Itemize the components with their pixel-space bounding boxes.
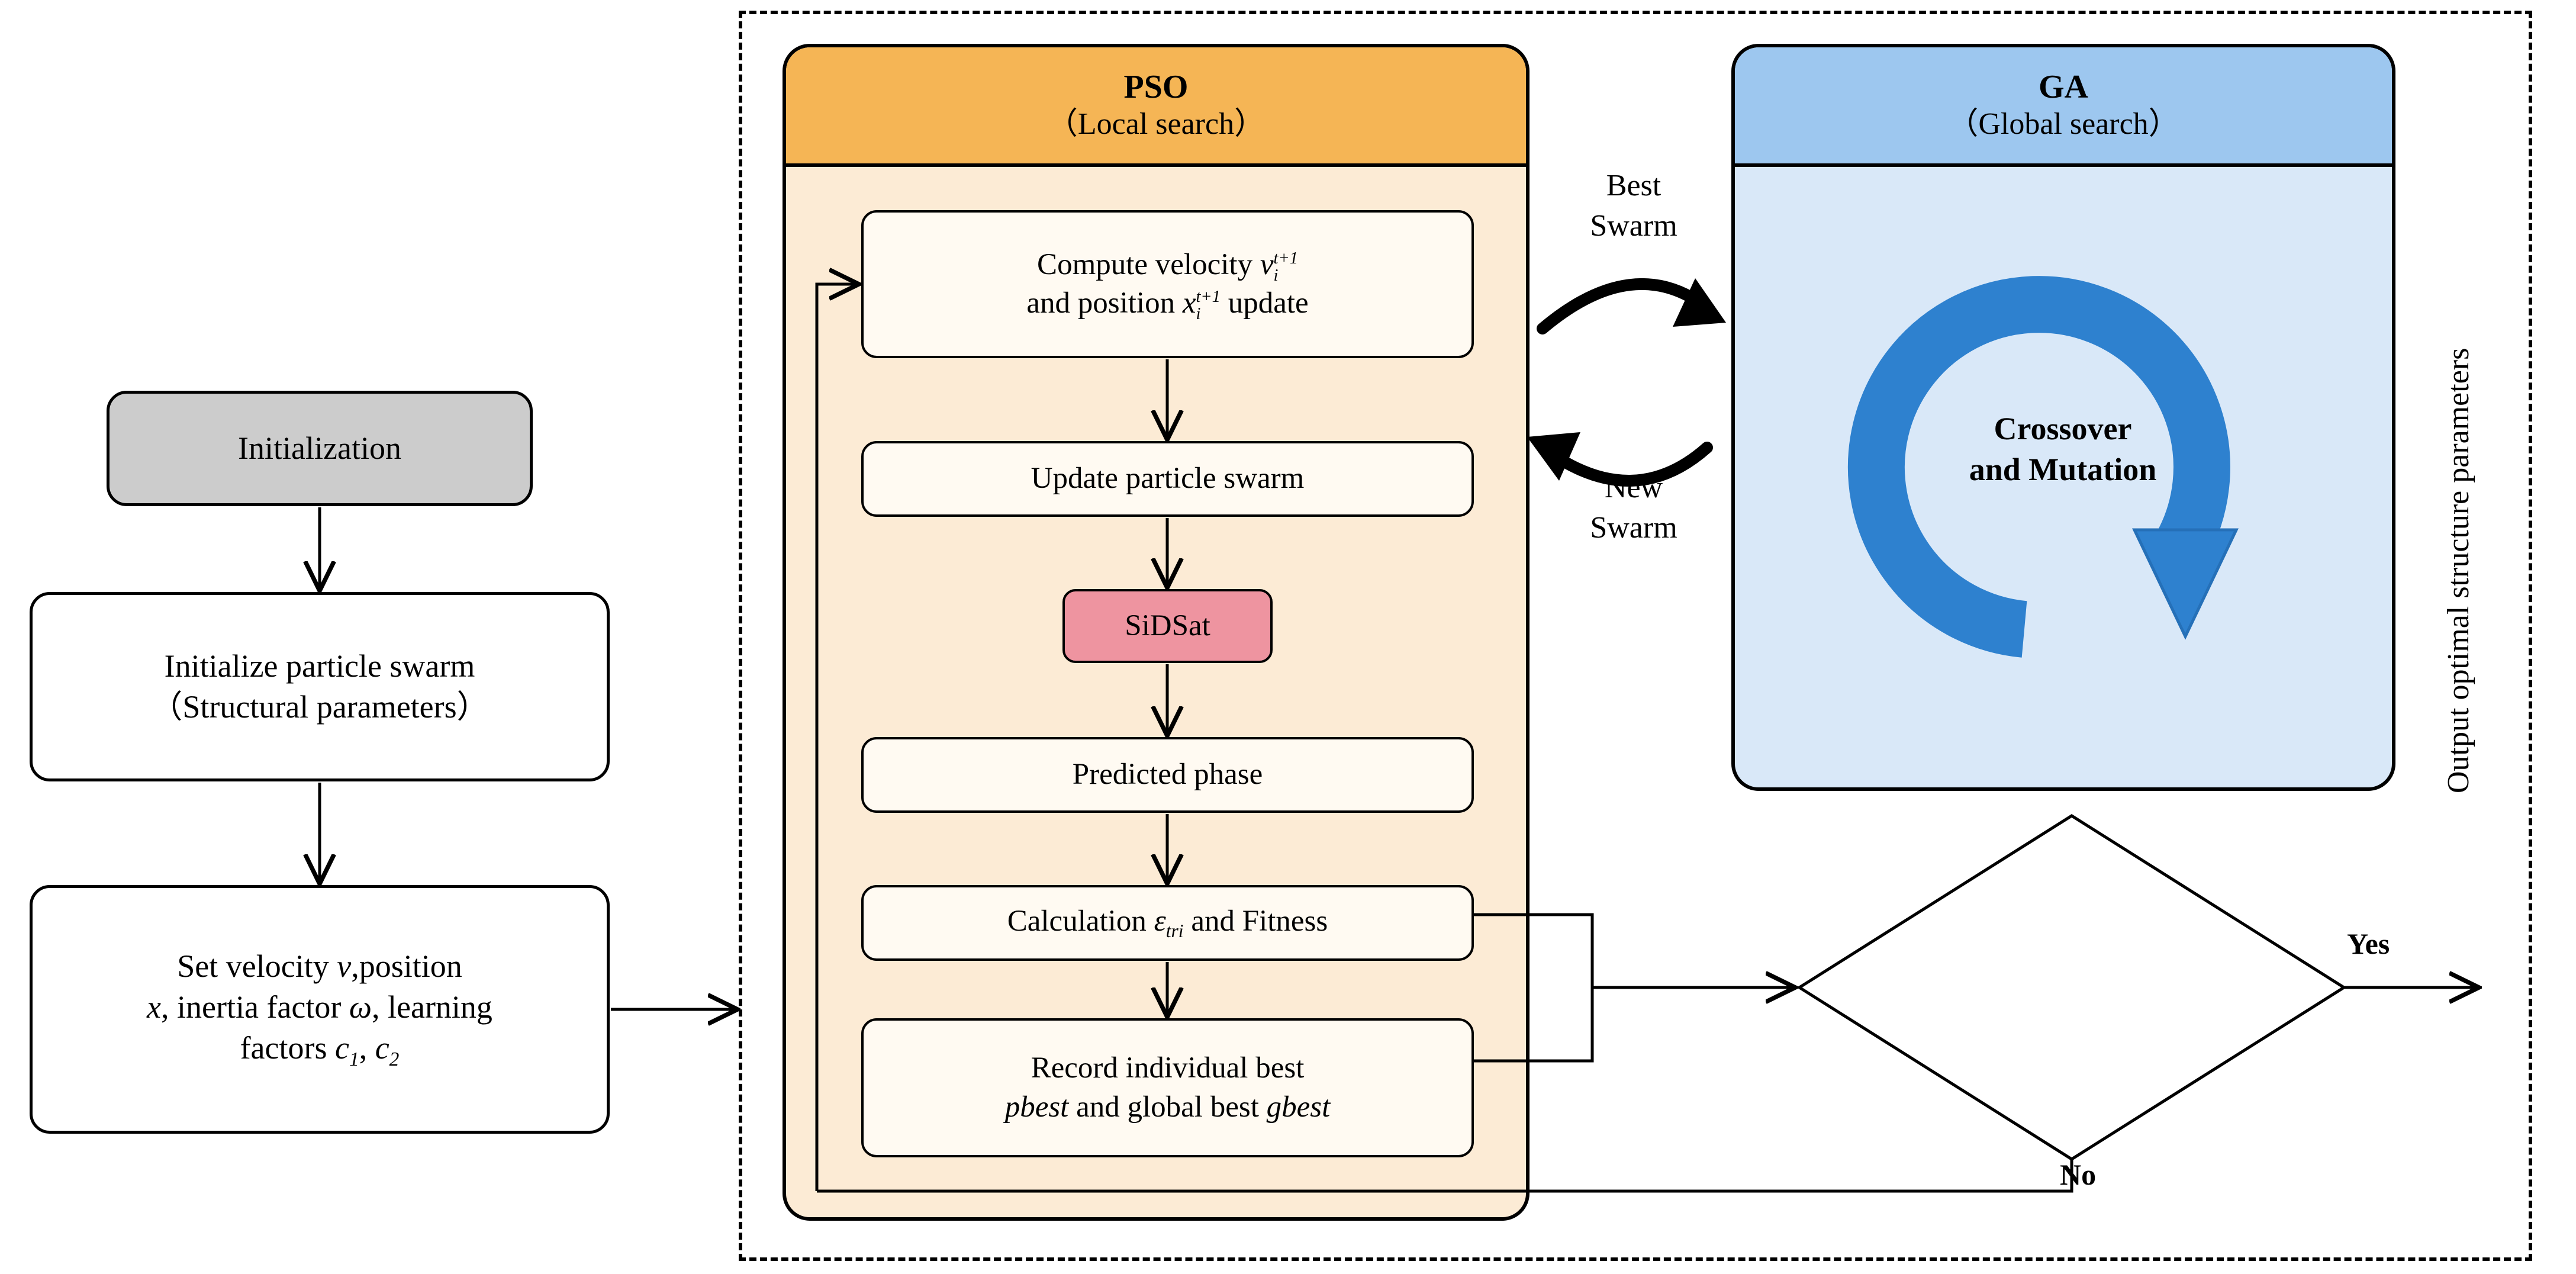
new-swarm-line-1: New: [1545, 468, 1722, 508]
v-subscript: i: [1273, 267, 1297, 284]
gbest-symbol: gbest: [1267, 1090, 1331, 1124]
best-swarm-line-2: Swarm: [1545, 206, 1722, 246]
c1-subscript: 1: [349, 1048, 359, 1070]
pso-title: PSO: [1124, 68, 1189, 106]
yes-branch-label: Yes: [2347, 926, 2390, 961]
and-position-text: and position: [1026, 287, 1183, 320]
flowchart-canvas: Initialization Initialize particle swarm…: [0, 0, 2576, 1274]
calculation-text: Calculation: [1007, 905, 1154, 938]
initialization-box: Initialization: [107, 391, 533, 506]
record-line-2: pbest and global best gbest: [1005, 1088, 1331, 1127]
record-line-1: Record individual best: [1031, 1049, 1305, 1088]
x-symbol: x: [1183, 287, 1196, 320]
c2-subscript: 2: [389, 1048, 400, 1070]
ga-title: GA: [2039, 68, 2088, 106]
pso-panel-header: PSO （Local search）: [786, 47, 1526, 167]
compute-velocity-text: Compute velocity: [1037, 248, 1260, 281]
predicted-phase-label: Predicted phase: [1073, 755, 1263, 794]
factors-text: factors: [240, 1030, 335, 1066]
calculation-line: Calculation εtri and Fitness: [1007, 902, 1328, 944]
compute-velocity-position-box: Compute velocity vt+1i and position xt+1…: [861, 210, 1474, 358]
sidsat-box: SiDSat: [1062, 589, 1273, 663]
record-best-box: Record individual best pbest and global …: [861, 1018, 1474, 1157]
epsilon-symbol: ε: [1154, 905, 1166, 938]
x-subscript: i: [1196, 305, 1220, 323]
compute-line-2: and position xt+1i update: [1026, 284, 1308, 323]
c1-symbol: c: [335, 1030, 349, 1066]
initialize-particle-swarm-box: Initialize particle swarm （Structural pa…: [30, 592, 610, 781]
best-swarm-label: Best Swarm: [1545, 166, 1722, 246]
no-branch-label: No: [2060, 1157, 2096, 1192]
best-swarm-line-1: Best: [1545, 166, 1722, 206]
x-exponent-group: t+1i: [1196, 288, 1220, 323]
x-superscript: t+1: [1196, 288, 1220, 305]
pso-subtitle: （Local search）: [1047, 106, 1265, 143]
output-optimal-parameters-label: Output optimal structure parameters: [2439, 403, 2479, 793]
compute-line-1: Compute velocity vt+1i: [1037, 246, 1298, 284]
factors-separator: ,: [359, 1030, 375, 1066]
velocity-symbol: v: [337, 948, 351, 984]
c2-symbol: c: [375, 1030, 389, 1066]
pbest-symbol: pbest: [1005, 1090, 1069, 1124]
position-text: ,position: [351, 948, 462, 984]
ga-panel: GA （Global search）: [1731, 44, 2395, 791]
ga-panel-header: GA （Global search）: [1735, 47, 2392, 167]
new-swarm-line-2: Swarm: [1545, 508, 1722, 548]
set-velocity-text: Set velocity: [177, 948, 337, 984]
update-text: update: [1221, 287, 1309, 320]
new-swarm-label: New Swarm: [1545, 468, 1722, 548]
epsilon-subscript: tri: [1166, 921, 1184, 941]
ga-subtitle: （Global search）: [1947, 106, 2179, 143]
v-superscript: t+1: [1273, 250, 1297, 267]
record-mid-text: and global best: [1068, 1090, 1266, 1124]
and-fitness-text: and Fitness: [1184, 905, 1328, 938]
initialization-label: Initialization: [238, 428, 401, 469]
learning-text: , learning: [372, 989, 492, 1025]
omega-symbol: ω: [349, 989, 372, 1025]
v-symbol: v: [1260, 248, 1274, 281]
set-params-line-1: Set velocity v,position: [177, 946, 462, 987]
update-particle-swarm-box: Update particle swarm: [861, 441, 1474, 517]
inertia-text: , inertia factor: [161, 989, 349, 1025]
set-params-line-2: x, inertia factor ω, learning: [147, 987, 492, 1028]
position-symbol: x: [147, 989, 161, 1025]
sidsat-label: SiDSat: [1125, 607, 1210, 645]
update-particle-swarm-label: Update particle swarm: [1031, 459, 1305, 498]
set-params-line-3: factors c1, c2: [240, 1028, 400, 1073]
init-swarm-line-1: Initialize particle swarm: [165, 646, 475, 687]
predicted-phase-box: Predicted phase: [861, 737, 1474, 813]
set-parameters-box: Set velocity v,position x, inertia facto…: [30, 885, 610, 1134]
init-swarm-line-2: （Structural parameters）: [150, 687, 488, 728]
v-exponent-group: t+1i: [1273, 250, 1297, 284]
calculation-fitness-box: Calculation εtri and Fitness: [861, 885, 1474, 961]
